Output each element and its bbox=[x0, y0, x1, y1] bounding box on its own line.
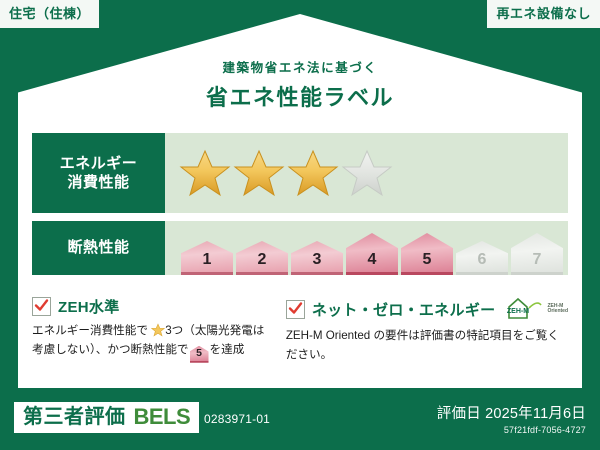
zeh-body-text-1: エネルギー消費性能で bbox=[32, 324, 148, 337]
insulation-performance-label: 断熱性能 bbox=[32, 221, 165, 275]
energy-star-rating bbox=[165, 133, 568, 213]
insulation-level-chip: 7 bbox=[511, 233, 563, 275]
insulation-performance-row: 断熱性能 1 2 3 4 5 6 7 bbox=[32, 221, 568, 275]
label-footer: 第三者評価 BELS 0283971-01 評価日 2025年11月6日 57f… bbox=[0, 394, 600, 450]
insulation-label-line1: 断熱性能 bbox=[67, 238, 129, 257]
title-subtitle: 建築物省エネ法に基づく bbox=[0, 57, 600, 76]
performance-table: エネルギー 消費性能 bbox=[32, 133, 568, 283]
star-filled-icon bbox=[287, 148, 339, 198]
star-filled-icon bbox=[233, 148, 285, 198]
nzeb-checkbox[interactable] bbox=[286, 300, 305, 319]
criteria-section: ZEH水準 エネルギー消費性能で 3つ（太陽光発電は考慮しない）、かつ断熱性能で… bbox=[32, 296, 568, 365]
energy-label-line2: 消費性能 bbox=[67, 173, 129, 192]
zeh-criteria-column: ZEH水準 エネルギー消費性能で 3つ（太陽光発電は考慮しない）、かつ断熱性能で… bbox=[32, 296, 276, 365]
building-type-tag: 住宅（住棟） bbox=[0, 0, 99, 28]
zeh-m-logo: ZEH-M ZEH-M Oriented bbox=[505, 296, 568, 322]
star-filled-icon bbox=[179, 148, 231, 198]
energy-performance-label: エネルギー 消費性能 bbox=[32, 133, 165, 213]
insulation-level-chip: 1 bbox=[181, 241, 233, 275]
zeh-m-logo-sub2: Oriented bbox=[547, 309, 568, 314]
zeh-body-text-3: を達成 bbox=[210, 343, 245, 356]
energy-performance-label: 住宅（住棟） 再エネ設備なし 建築物省エネ法に基づく 省エネ性能ラベル エネルギ… bbox=[0, 0, 600, 450]
nzeb-criteria-column: ネット・ゼロ・エネルギー ZEH-M ZEH-M Oriented ZEH-M … bbox=[276, 296, 568, 365]
bels-badge: 第三者評価 BELS bbox=[14, 402, 199, 433]
nzeb-criteria-body: ZEH-M Oriented の要件は評価書の特記項目をご覧ください。 bbox=[286, 327, 568, 365]
insulation-level-chip: 3 bbox=[291, 241, 343, 275]
evaluation-info: 評価日 2025年11月6日 57f21fdf-7056-4727 bbox=[437, 402, 586, 435]
insulation-level-chip: 4 bbox=[346, 233, 398, 275]
zeh-body-star-count: 3つ（太陽光発電 bbox=[165, 324, 253, 337]
star-empty-icon bbox=[341, 148, 393, 198]
insulation-level-chip: 6 bbox=[456, 241, 508, 275]
label-title-block: 建築物省エネ法に基づく 省エネ性能ラベル bbox=[0, 57, 600, 112]
insulation-level-chip: 2 bbox=[236, 241, 288, 275]
zeh-m-house-icon: ZEH-M bbox=[505, 296, 545, 322]
check-icon bbox=[288, 301, 303, 316]
zeh-criteria-title: ZEH水準 bbox=[58, 296, 120, 317]
zeh-checkbox[interactable] bbox=[32, 297, 51, 316]
zeh-m-logo-text: ZEH-M bbox=[507, 308, 529, 315]
inline-insulation-badge: 5 bbox=[190, 346, 209, 363]
energy-performance-row: エネルギー 消費性能 bbox=[32, 133, 568, 213]
insulation-level-chip: 5 bbox=[401, 233, 453, 275]
evaluation-id: 57f21fdf-7056-4727 bbox=[437, 425, 586, 435]
inline-star-icon bbox=[151, 323, 165, 337]
renewable-equipment-tag: 再エネ設備なし bbox=[487, 0, 600, 28]
evaluation-date: 評価日 2025年11月6日 bbox=[437, 402, 586, 423]
bels-certificate-number: 0283971-01 bbox=[204, 412, 270, 426]
nzeb-criteria-header: ネット・ゼロ・エネルギー ZEH-M ZEH-M Oriented bbox=[286, 296, 568, 322]
zeh-criteria-header: ZEH水準 bbox=[32, 296, 266, 317]
bels-jp-text: 第三者評価 bbox=[23, 407, 126, 427]
energy-label-line1: エネルギー bbox=[60, 154, 138, 173]
page-title: 省エネ性能ラベル bbox=[0, 80, 600, 112]
zeh-criteria-body: エネルギー消費性能で 3つ（太陽光発電は考慮しない）、かつ断熱性能で5を達成 bbox=[32, 322, 266, 363]
bels-en-text: BELS bbox=[134, 406, 191, 428]
check-icon bbox=[34, 298, 49, 313]
nzeb-criteria-title: ネット・ゼロ・エネルギー bbox=[312, 299, 496, 320]
insulation-level-scale: 1 2 3 4 5 6 7 bbox=[165, 221, 568, 275]
